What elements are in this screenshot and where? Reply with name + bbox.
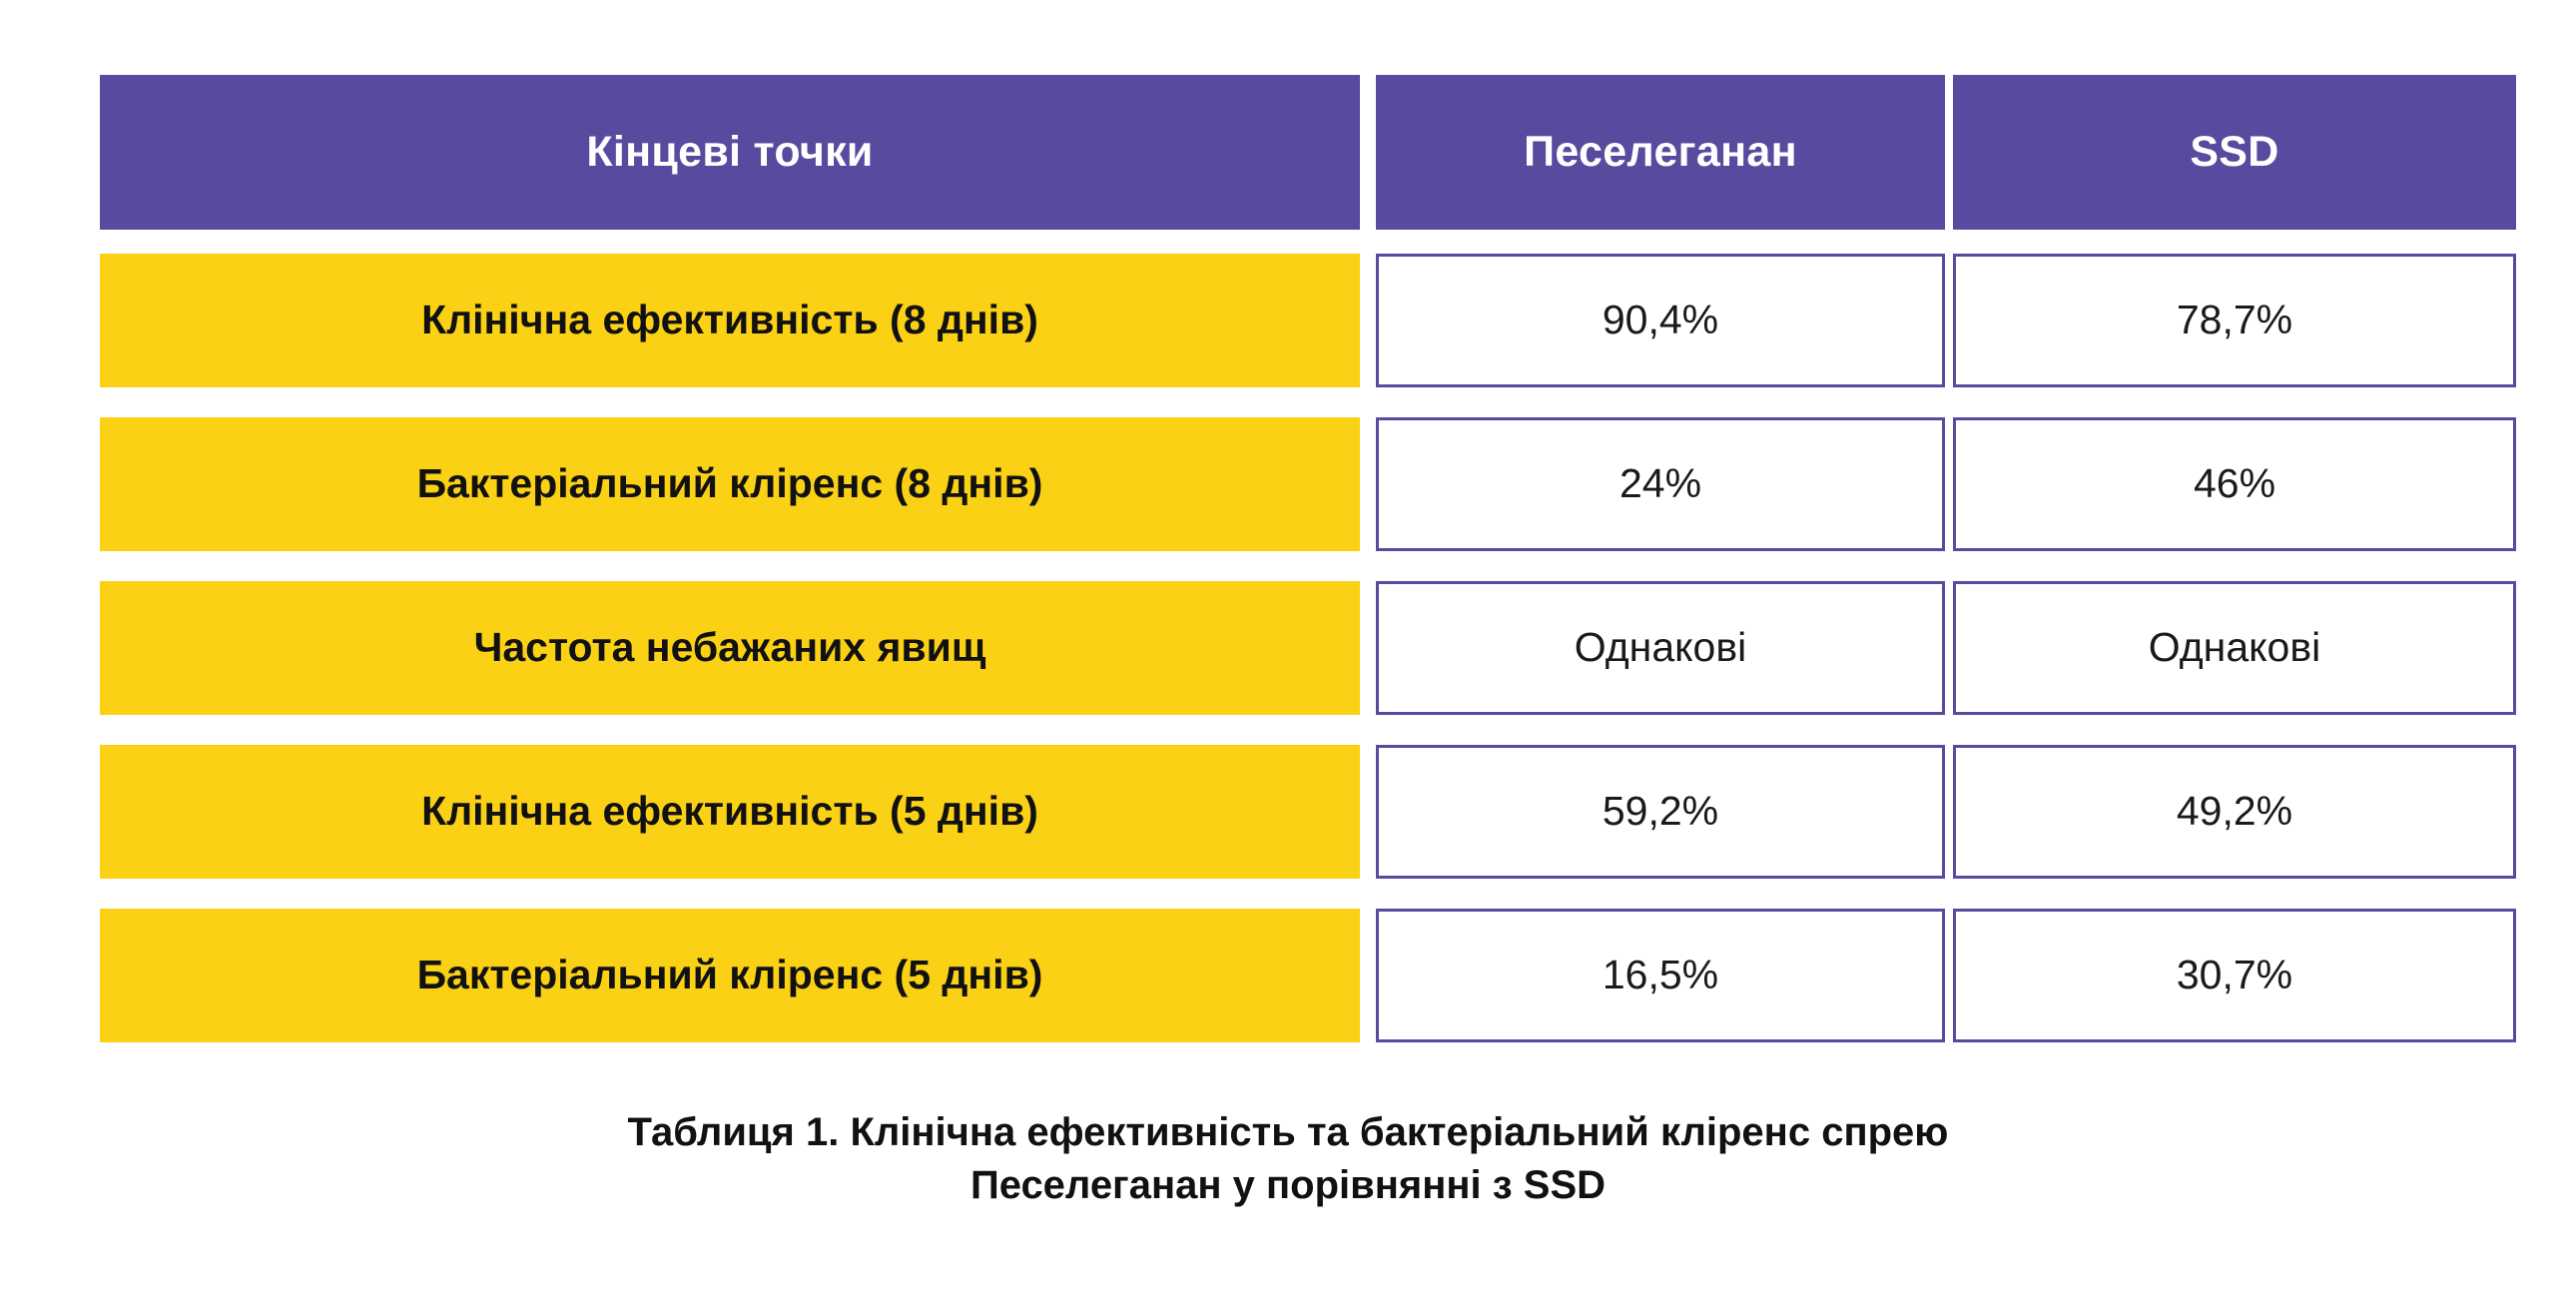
row-label-text: Клінічна ефективність (5 днів) bbox=[421, 789, 1038, 834]
value-cell-ssd: 78,7% bbox=[1953, 254, 2516, 387]
value-text-ssd: Однакові bbox=[2149, 625, 2320, 670]
row-label-cell: Бактеріальний кліренс (8 днів) bbox=[100, 417, 1360, 551]
table-row: Бактеріальний кліренс (8 днів) 24% 46% bbox=[100, 417, 2516, 551]
table-row: Частота небажаних явищ Однакові Однакові bbox=[100, 581, 2516, 715]
header-cell-endpoints: Кінцеві точки bbox=[100, 75, 1360, 230]
table-row: Бактеріальний кліренс (5 днів) 16,5% 30,… bbox=[100, 909, 2516, 1042]
column-gap bbox=[1360, 75, 1376, 230]
table-figure: Кінцеві точки Песелеганан SSD Клінічна е… bbox=[0, 0, 2576, 1304]
value-cell-ssd: Однакові bbox=[1953, 581, 2516, 715]
column-gap bbox=[1360, 909, 1376, 1042]
caption-line-2: Песелеганан у порівнянні з SSD bbox=[0, 1159, 2576, 1212]
row-label-text: Частота небажаних явищ bbox=[474, 625, 986, 670]
comparison-table: Кінцеві точки Песелеганан SSD Клінічна е… bbox=[100, 75, 2516, 1042]
header-label-peseleganan: Песелеганан bbox=[1524, 129, 1797, 176]
column-gap bbox=[1945, 581, 1953, 715]
value-text-peseleganan: Однакові bbox=[1575, 625, 1746, 670]
header-cell-peseleganan: Песелеганан bbox=[1376, 75, 1945, 230]
value-text-ssd: 49,2% bbox=[2177, 789, 2292, 834]
row-label-cell: Частота небажаних явищ bbox=[100, 581, 1360, 715]
value-text-peseleganan: 90,4% bbox=[1603, 298, 1718, 342]
header-label-endpoints: Кінцеві точки bbox=[586, 129, 873, 176]
row-label-cell: Клінічна ефективність (5 днів) bbox=[100, 745, 1360, 879]
caption-line-1: Таблиця 1. Клінічна ефективність та бакт… bbox=[0, 1106, 2576, 1159]
value-cell-ssd: 30,7% bbox=[1953, 909, 2516, 1042]
header-label-ssd: SSD bbox=[2190, 129, 2278, 176]
row-label-text: Клінічна ефективність (8 днів) bbox=[421, 298, 1038, 342]
value-cell-ssd: 49,2% bbox=[1953, 745, 2516, 879]
value-cell-peseleganan: 16,5% bbox=[1376, 909, 1945, 1042]
column-gap bbox=[1945, 745, 1953, 879]
row-label-text: Бактеріальний кліренс (8 днів) bbox=[417, 461, 1043, 506]
column-gap bbox=[1360, 581, 1376, 715]
row-label-text: Бактеріальний кліренс (5 днів) bbox=[417, 953, 1043, 997]
column-gap bbox=[1360, 745, 1376, 879]
value-text-peseleganan: 59,2% bbox=[1603, 789, 1718, 834]
column-gap bbox=[1360, 417, 1376, 551]
value-cell-peseleganan: 90,4% bbox=[1376, 254, 1945, 387]
column-gap bbox=[1945, 417, 1953, 551]
column-gap bbox=[1945, 909, 1953, 1042]
table-row: Клінічна ефективність (5 днів) 59,2% 49,… bbox=[100, 745, 2516, 879]
row-label-cell: Бактеріальний кліренс (5 днів) bbox=[100, 909, 1360, 1042]
value-cell-peseleganan: 59,2% bbox=[1376, 745, 1945, 879]
column-gap bbox=[1945, 75, 1953, 230]
table-caption: Таблиця 1. Клінічна ефективність та бакт… bbox=[0, 1106, 2576, 1212]
value-text-ssd: 46% bbox=[2194, 461, 2275, 506]
value-cell-peseleganan: 24% bbox=[1376, 417, 1945, 551]
value-text-peseleganan: 24% bbox=[1619, 461, 1701, 506]
value-text-peseleganan: 16,5% bbox=[1603, 953, 1718, 997]
column-gap bbox=[1945, 254, 1953, 387]
header-cell-ssd: SSD bbox=[1953, 75, 2516, 230]
value-text-ssd: 30,7% bbox=[2177, 953, 2292, 997]
row-label-cell: Клінічна ефективність (8 днів) bbox=[100, 254, 1360, 387]
table-header-row: Кінцеві точки Песелеганан SSD bbox=[100, 75, 2516, 230]
value-cell-ssd: 46% bbox=[1953, 417, 2516, 551]
value-text-ssd: 78,7% bbox=[2177, 298, 2292, 342]
table-row: Клінічна ефективність (8 днів) 90,4% 78,… bbox=[100, 254, 2516, 387]
column-gap bbox=[1360, 254, 1376, 387]
value-cell-peseleganan: Однакові bbox=[1376, 581, 1945, 715]
